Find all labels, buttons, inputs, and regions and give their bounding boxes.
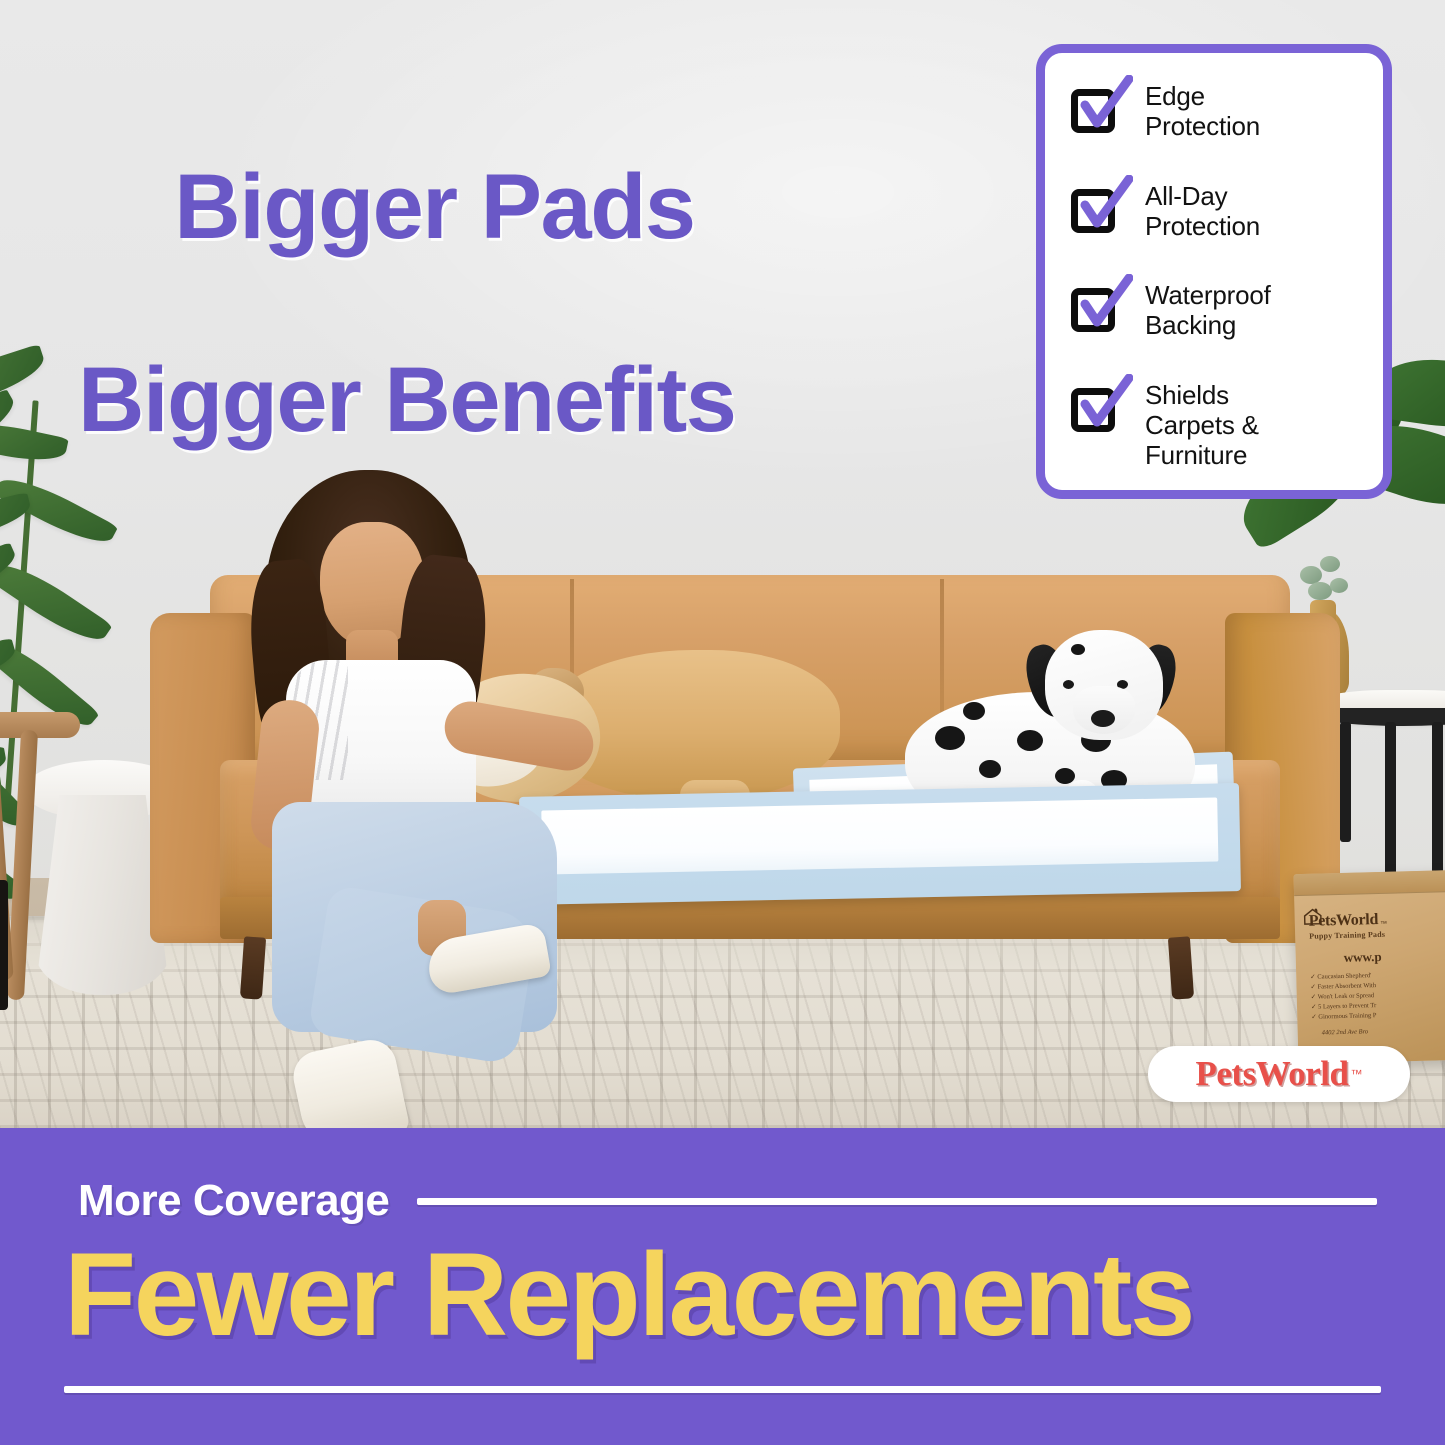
banner-divider-top bbox=[417, 1198, 1377, 1205]
dalmatian-spot bbox=[1071, 644, 1085, 655]
wooden-chair-seat bbox=[0, 712, 80, 738]
checkbox-checked-icon bbox=[1067, 380, 1129, 438]
checkbox-checked-icon bbox=[1067, 280, 1129, 338]
woman-sneaker-front bbox=[289, 1035, 412, 1128]
box-flap bbox=[1294, 870, 1445, 896]
box-address: 4402 2nd Ave Bro bbox=[1322, 1026, 1445, 1037]
cardboard-shipping-box: PetsWorld ™ Puppy Training Pads www.p ✓ … bbox=[1294, 870, 1445, 1064]
dark-object-left bbox=[0, 880, 8, 1010]
product-banner-canvas: PetsWorld ™ Puppy Training Pads www.p ✓ … bbox=[0, 0, 1445, 1445]
dalmatian-nose bbox=[1091, 710, 1115, 727]
dalmatian-spot bbox=[1017, 730, 1043, 751]
box-trademark: ™ bbox=[1380, 921, 1387, 928]
box-subtitle: Puppy Training Pads bbox=[1309, 928, 1445, 941]
checkmark-icon bbox=[1073, 75, 1133, 135]
checkbox-checked-icon bbox=[1067, 81, 1129, 139]
feature-item-all-day-protection: All-Day Protection bbox=[1067, 179, 1365, 241]
feature-checklist-card: Edge Protection All-Day Protection Water… bbox=[1036, 44, 1392, 499]
feature-item-waterproof-backing: Waterproof Backing bbox=[1067, 278, 1365, 340]
feature-label: All-Day Protection bbox=[1145, 179, 1260, 241]
petsworld-logo-text: PetsWorld bbox=[1196, 1054, 1349, 1094]
banner-divider-bottom bbox=[64, 1386, 1381, 1393]
side-table-leg bbox=[1432, 722, 1443, 882]
sofa-leg bbox=[1168, 936, 1194, 999]
petsworld-logo-badge: PetsWorld ™ bbox=[1148, 1046, 1410, 1102]
petsworld-logo-trademark: ™ bbox=[1350, 1067, 1362, 1081]
dalmatian-spot bbox=[963, 702, 985, 720]
banner-kicker-row: More Coverage bbox=[78, 1176, 1377, 1226]
training-pad-surface bbox=[541, 798, 1218, 875]
feature-label: Waterproof Backing bbox=[1145, 278, 1271, 340]
training-pad-product bbox=[519, 783, 1241, 905]
dalmatian-eye-left bbox=[1063, 680, 1074, 689]
checkbox-checked-icon bbox=[1067, 181, 1129, 239]
box-bullet-list: ✓ Caucasian Shepherd' ✓ Faster Absorbent… bbox=[1310, 969, 1445, 1023]
dalmatian-spot bbox=[935, 726, 965, 750]
checkmark-icon bbox=[1073, 274, 1133, 334]
side-table-leg bbox=[1385, 722, 1396, 882]
dog-house-icon bbox=[1302, 907, 1324, 926]
feature-item-shields-carpets-furniture: Shields Carpets & Furniture bbox=[1067, 378, 1365, 470]
feature-label: Shields Carpets & Furniture bbox=[1145, 378, 1259, 470]
box-url: www.p bbox=[1344, 947, 1445, 966]
headline-line-2: Bigger Benefits bbox=[78, 352, 735, 449]
feature-item-edge-protection: Edge Protection bbox=[1067, 79, 1365, 141]
dalmatian-spot bbox=[979, 760, 1001, 778]
bottom-promo-banner: More Coverage Fewer Replacements bbox=[0, 1128, 1445, 1445]
feature-label: Edge Protection bbox=[1145, 79, 1260, 141]
checkmark-icon bbox=[1073, 175, 1133, 235]
banner-kicker-text: More Coverage bbox=[78, 1176, 389, 1226]
side-table-leg bbox=[1340, 722, 1351, 842]
banner-headline-text: Fewer Replacements bbox=[64, 1236, 1395, 1354]
headline-line-1: Bigger Pads bbox=[174, 156, 694, 258]
page-title: Bigger Pads Bigger Benefits bbox=[78, 62, 735, 642]
checkmark-icon bbox=[1073, 374, 1133, 434]
box-label: PetsWorld ™ Puppy Training Pads www.p ✓ … bbox=[1309, 910, 1445, 1037]
eucalyptus-leaf bbox=[1320, 556, 1340, 572]
